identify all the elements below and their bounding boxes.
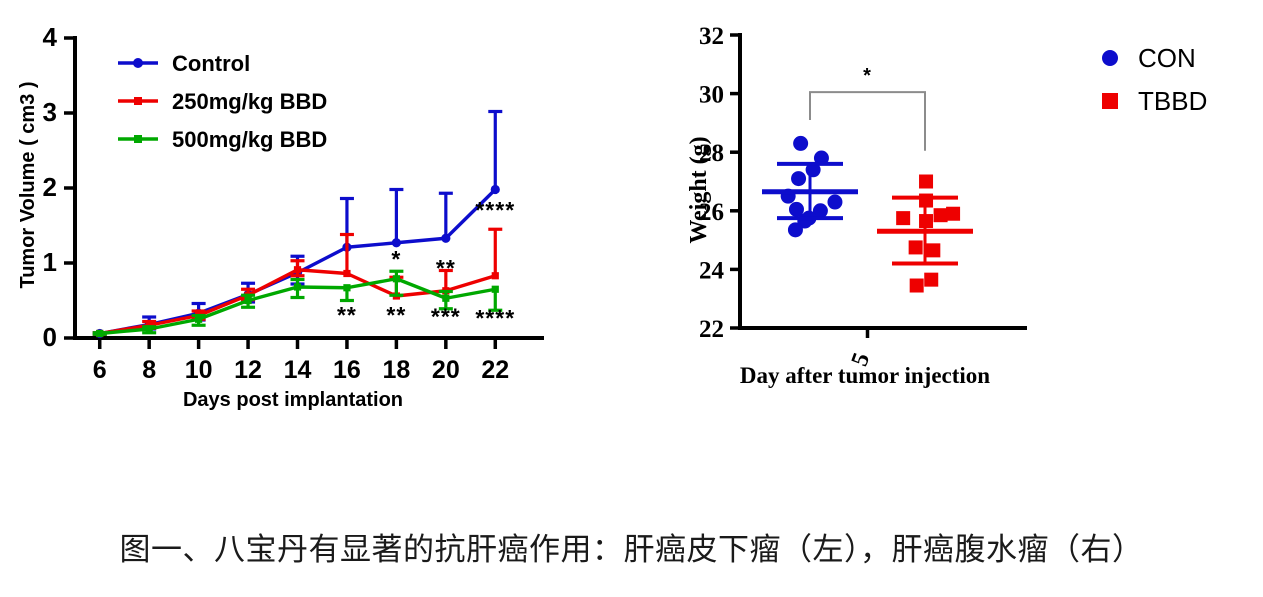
left-chart-legend: Control250mg/kg BBD500mg/kg BBD [118, 51, 327, 152]
scatter-point [791, 171, 806, 186]
weight-plot-area: 2224262830325 * CONTBBD Weight (g) Day a… [680, 0, 1263, 430]
scatter-point [909, 240, 923, 254]
legend-label: TBBD [1138, 86, 1207, 116]
y-tick-label: 4 [43, 22, 58, 52]
left-chart-annotations: ****************** [337, 197, 515, 331]
scatter-point [924, 273, 938, 287]
significance-marker: * [863, 65, 872, 87]
significance-marker: ** [337, 302, 357, 328]
significance-marker: ** [436, 255, 456, 281]
legend-label: 250mg/kg BBD [172, 89, 327, 114]
data-point [442, 295, 449, 302]
x-axis-title: Days post implantation [183, 389, 403, 411]
scatter-point [896, 211, 910, 225]
significance-marker: * [391, 246, 401, 272]
data-point [492, 272, 499, 279]
x-tick-label: 20 [432, 356, 460, 384]
x-tick-label: 18 [382, 356, 410, 384]
legend-marker [134, 135, 142, 143]
tumor-volume-line-chart: 012346810121416182022 ******************… [0, 0, 560, 430]
data-point [195, 316, 202, 323]
y-tick-label: 30 [699, 82, 724, 109]
x-tick-label: 10 [185, 356, 213, 384]
legend-label: Control [172, 51, 250, 76]
data-point [492, 286, 499, 293]
y-tick-label: 22 [699, 316, 724, 343]
legend-marker [1102, 50, 1118, 66]
axis-lines [740, 35, 1025, 328]
legend-marker [134, 97, 142, 105]
y-tick-label: 32 [699, 23, 724, 50]
y-tick-label: 0 [43, 322, 57, 352]
legend-label: 500mg/kg BBD [172, 127, 327, 152]
x-axis-title: Day after tumor injection [740, 363, 990, 388]
data-point [343, 270, 350, 277]
significance-marker: ** [386, 302, 406, 328]
data-point [491, 185, 500, 194]
significance-marker: **** [475, 305, 515, 331]
right-chart-legend: CONTBBD [1102, 43, 1207, 116]
significance-marker: *** [431, 304, 461, 330]
significance-marker: **** [475, 197, 515, 223]
scatter-point [827, 195, 842, 210]
legend-label: CON [1138, 43, 1196, 73]
legend-item-tbbd: TBBD [1102, 86, 1207, 116]
figure-root: 012346810121416182022 ******************… [0, 0, 1263, 597]
data-point [294, 266, 301, 273]
scatter-point [926, 243, 940, 257]
y-tick-label: 24 [699, 257, 725, 284]
right-chart-points [781, 136, 960, 293]
legend-item-2: 500mg/kg BBD [118, 127, 327, 152]
x-tick-label: 8 [142, 356, 156, 384]
y-tick-label: 2 [43, 172, 57, 202]
group-con [762, 164, 858, 218]
y-axis-title: Weight (g) [686, 136, 712, 243]
data-point [393, 275, 400, 282]
legend-marker [1102, 93, 1118, 109]
y-tick-label: 1 [43, 247, 57, 277]
points-con [781, 136, 843, 237]
x-tick-label: 12 [234, 356, 262, 384]
tumor-volume-plot-area: 012346810121416182022 ******************… [0, 0, 560, 430]
x-tick-label: 22 [481, 356, 509, 384]
scatter-point [934, 208, 948, 222]
x-tick-label: 14 [284, 356, 312, 384]
scatter-point [793, 136, 808, 151]
bracket-path [810, 92, 925, 151]
legend-item-con: CON [1102, 43, 1196, 73]
legend-item-1: 250mg/kg BBD [118, 89, 327, 114]
data-point [244, 297, 251, 304]
y-axis-title: Tumor Volume ( cm3 ) [17, 81, 39, 288]
x-tick-label: 16 [333, 356, 361, 384]
data-point [146, 325, 153, 332]
data-point [96, 330, 103, 337]
figure-caption: 图一、八宝丹有显著的抗肝癌作用：肝癌皮下瘤（左），肝癌腹水瘤（右） [0, 524, 1263, 569]
data-point [294, 283, 301, 290]
legend-item-0: Control [118, 51, 250, 76]
weight-scatter-chart: 2224262830325 * CONTBBD Weight (g) Day a… [680, 0, 1263, 430]
scatter-point [946, 207, 960, 221]
legend-marker [133, 58, 143, 68]
scatter-point [788, 222, 803, 237]
y-tick-label: 3 [43, 97, 57, 127]
right-chart-axes: 2224262830325 [699, 23, 1025, 370]
significance-bracket: * [810, 65, 925, 151]
data-point [441, 234, 450, 243]
data-point [343, 284, 350, 291]
scatter-point [919, 175, 933, 189]
scatter-point [910, 279, 924, 293]
x-tick-label: 6 [93, 356, 107, 384]
